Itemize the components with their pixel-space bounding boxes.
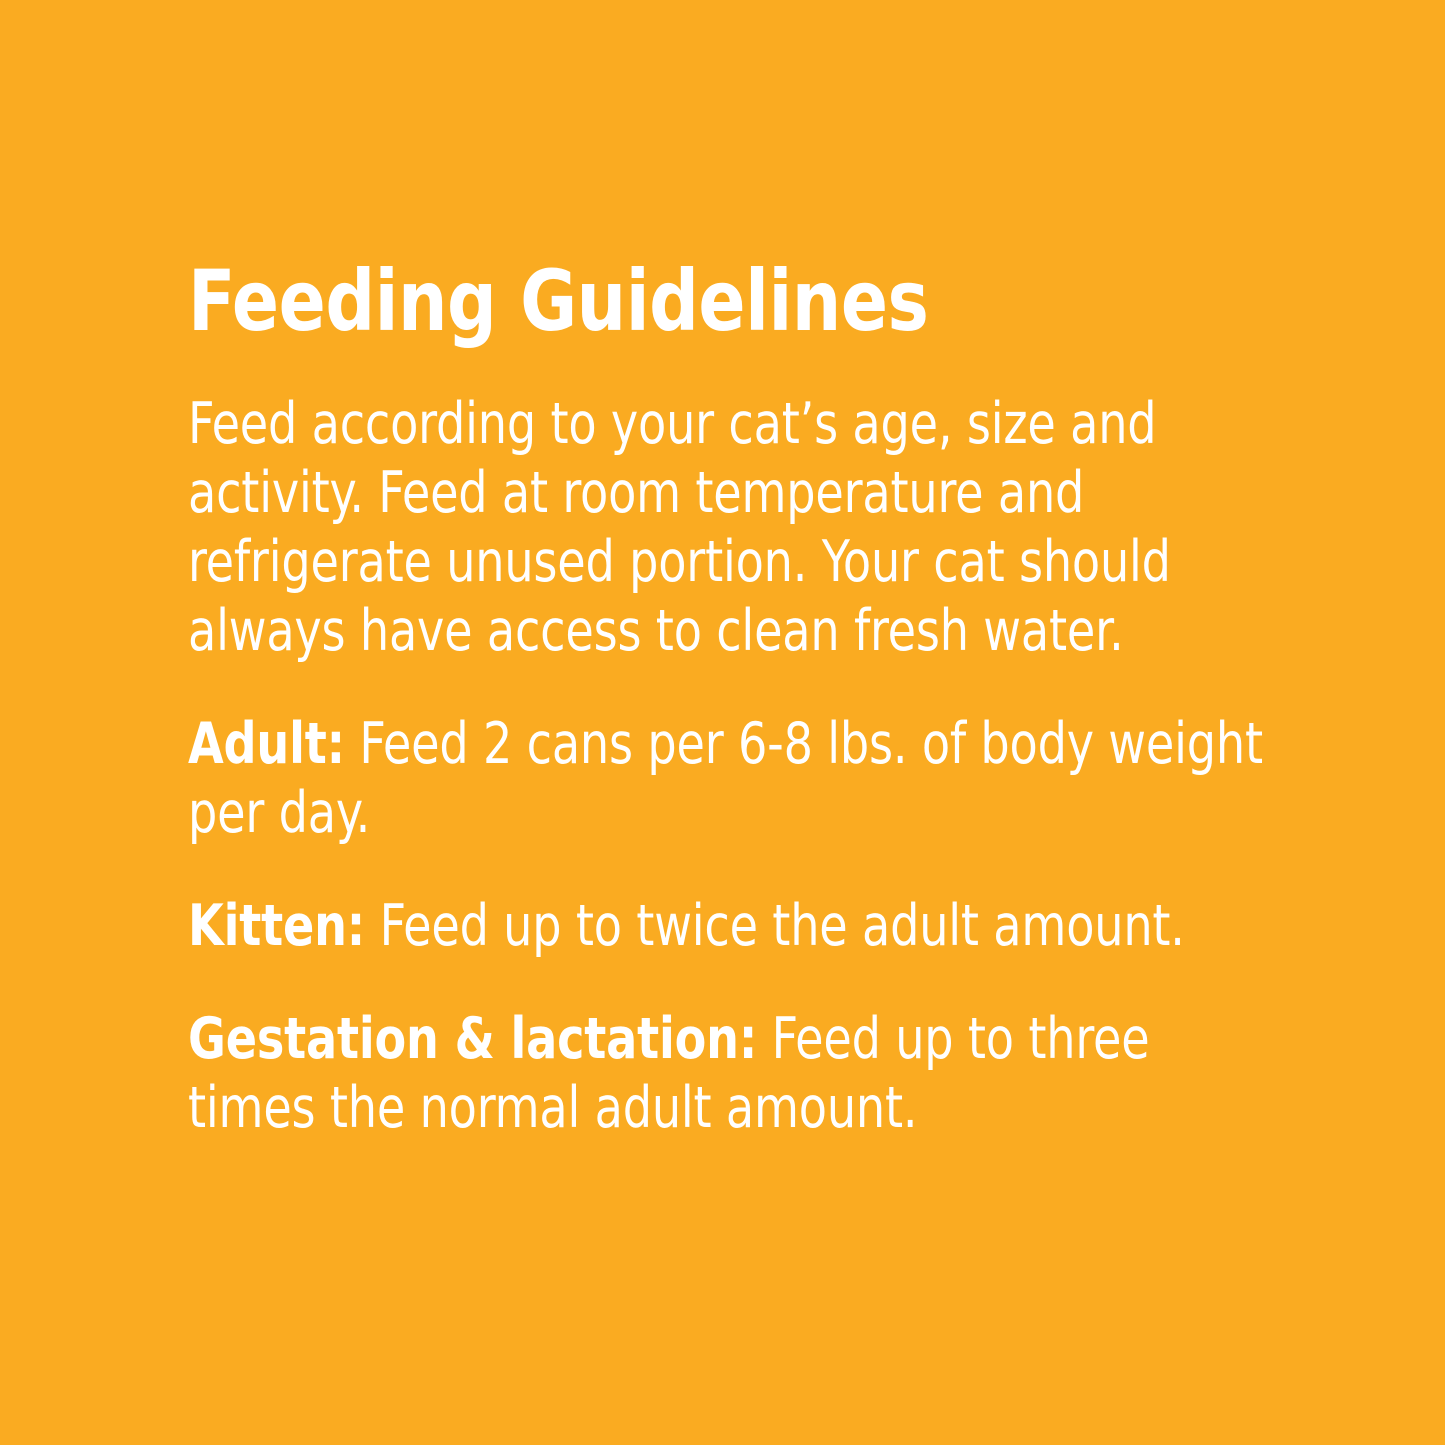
feeding-entry-text: Feed 2 cans per 6-8 lbs. of body weight … — [188, 711, 1263, 846]
intro-paragraph: Feed according to your cat’s age, size a… — [188, 390, 1273, 666]
feeding-entry-text: Feed up to twice the adult amount. — [365, 893, 1185, 959]
content-column: Feeding Guidelines Feed according to you… — [188, 258, 1278, 1143]
feeding-guidelines-panel: Feeding Guidelines Feed according to you… — [0, 0, 1445, 1445]
feeding-entry-adult: Adult: Feed 2 cans per 6-8 lbs. of body … — [188, 710, 1273, 848]
feeding-entry-label: Adult: — [188, 711, 345, 777]
feeding-entry-label: Kitten: — [188, 893, 365, 959]
feeding-entry-label: Gestation & lactation: — [188, 1006, 757, 1072]
feeding-entry-gestation-lactation: Gestation & lactation: Feed up to three … — [188, 1005, 1273, 1143]
page-title: Feeding Guidelines — [188, 258, 1191, 344]
feeding-entry-kitten: Kitten: Feed up to twice the adult amoun… — [188, 892, 1273, 961]
